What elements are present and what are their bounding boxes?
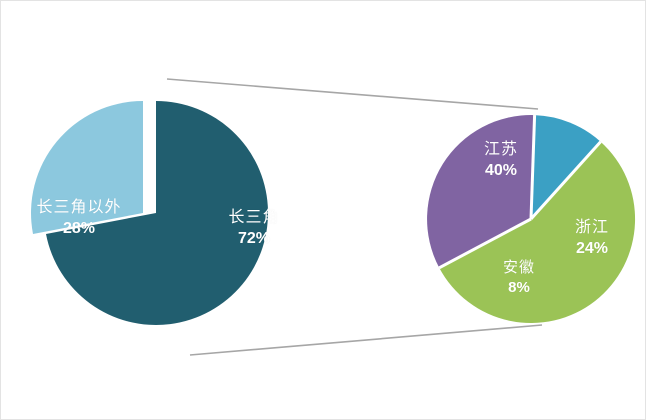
main-pie bbox=[31, 101, 268, 325]
chart-graphics bbox=[1, 1, 646, 420]
main-slice-changsanjiao-yiwai[interactable] bbox=[31, 101, 143, 234]
main-slice-changsanjiao-yiwai-group[interactable] bbox=[31, 101, 143, 234]
connector-line-bottom bbox=[190, 325, 542, 355]
pie-of-pie-chart: 长三角以外 28% 长三角 72% 江苏 40% 浙江 24% 安徽 8% bbox=[0, 0, 646, 420]
detail-pie bbox=[427, 115, 635, 323]
connector-line-top bbox=[167, 79, 538, 109]
